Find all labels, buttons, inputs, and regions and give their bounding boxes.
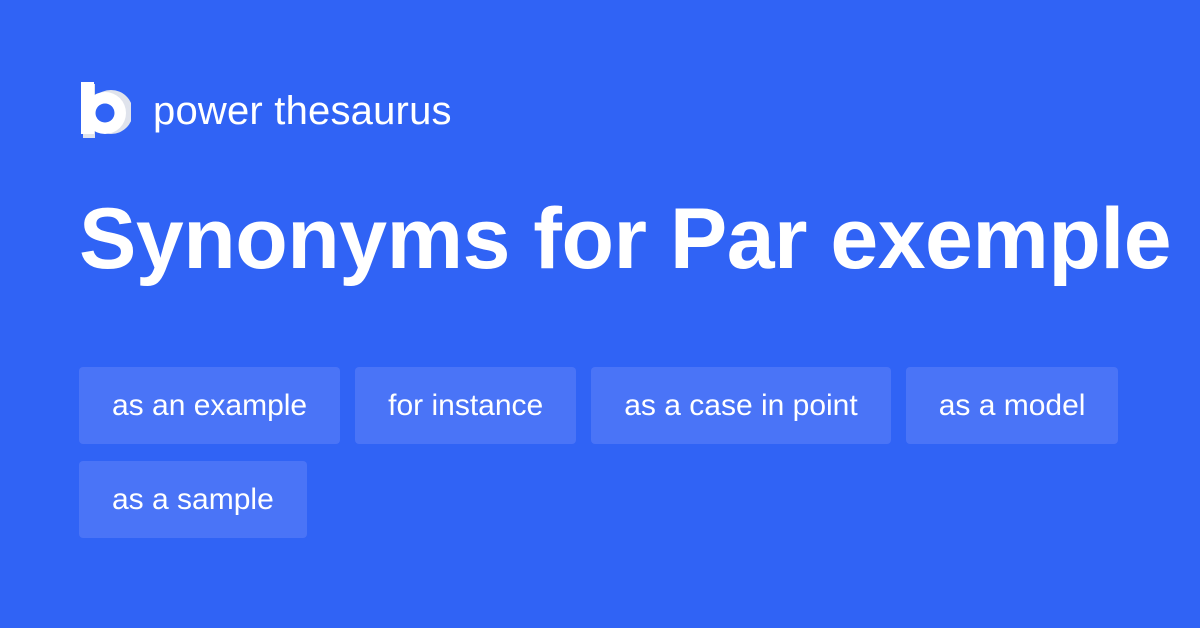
synonym-chip[interactable]: as a sample — [79, 461, 307, 538]
power-thesaurus-b-logo-icon — [79, 82, 131, 140]
synonym-chip[interactable]: as a case in point — [591, 367, 890, 444]
brand-name: power thesaurus — [153, 91, 452, 131]
synonym-chip-list: as an example for instance as a case in … — [79, 367, 1139, 538]
synonym-chip[interactable]: as an example — [79, 367, 340, 444]
brand-lockup[interactable]: power thesaurus — [79, 80, 452, 142]
og-card: power thesaurus Synonyms for Par exemple… — [0, 0, 1200, 628]
synonym-chip[interactable]: for instance — [355, 367, 576, 444]
synonym-chip[interactable]: as a model — [906, 367, 1119, 444]
page-title: Synonyms for Par exemple — [79, 196, 1139, 284]
